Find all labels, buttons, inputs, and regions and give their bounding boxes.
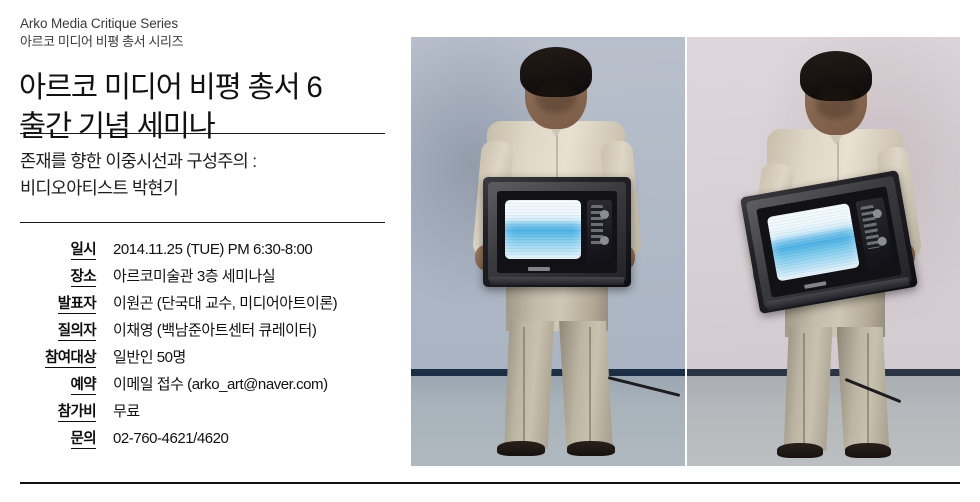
table-row: 참여대상일반인 50명 <box>0 346 400 373</box>
photo-left-tv <box>483 177 631 287</box>
photo-left-shoe-1 <box>497 441 545 456</box>
page-title-line2: 출간 기념 세미나 <box>19 107 399 146</box>
photo-right-tv-controlpanel <box>855 197 894 271</box>
divider-middle <box>20 222 385 223</box>
photo-left-shoe-2 <box>567 441 615 456</box>
detail-label: 발표자 <box>0 292 96 319</box>
photo-left-tv-bezel <box>488 182 626 282</box>
divider-bottom <box>20 482 960 484</box>
photo-left-tv-scanlines <box>505 200 581 259</box>
detail-value: 무료 <box>96 400 400 427</box>
photo-right-tv-inner <box>756 186 902 298</box>
photo-left-face-shadow <box>536 83 576 113</box>
detail-label-text: 발표자 <box>58 296 96 314</box>
photo-right-crease-1 <box>803 333 805 447</box>
photo-left-crease-1 <box>523 327 525 445</box>
text-column: Arko Media Critique Series 아르코 미디어 비평 총서… <box>0 0 410 502</box>
detail-value: 아르코미술관 3층 세미나실 <box>96 265 400 292</box>
photo-left-tv-lowbar <box>490 277 623 285</box>
detail-value: 일반인 50명 <box>96 346 400 373</box>
detail-value: 이메일 접수 (arko_art@naver.com) <box>96 373 400 400</box>
detail-label-text: 일시 <box>71 242 96 260</box>
subtitle-line2: 비디오아티스트 박현기 <box>20 175 395 202</box>
table-row: 질의자이채영 (백남준아트센터 큐레이터) <box>0 319 400 346</box>
table-row: 예약이메일 접수 (arko_art@naver.com) <box>0 373 400 400</box>
event-details-body: 일시2014.11.25 (TUE) PM 6:30-8:00장소아르코미술관 … <box>0 238 400 454</box>
detail-label: 문의 <box>0 427 96 454</box>
detail-label: 일시 <box>0 238 96 265</box>
photo-left-tv-screen <box>505 200 581 259</box>
detail-label-text: 참가비 <box>58 404 96 422</box>
photo-right <box>687 37 961 466</box>
photo-right-tv-scanlines <box>767 203 860 281</box>
detail-value: 이원곤 (단국대 교수, 미디어아트이론) <box>96 292 400 319</box>
photo-right-figure <box>687 37 961 466</box>
page-title-line1: 아르코 미디어 비평 총서 6 <box>19 71 322 104</box>
photo-left-crease-2 <box>589 327 591 445</box>
photo-right-shoe-1 <box>777 443 823 458</box>
detail-label-text: 장소 <box>71 269 96 287</box>
poster-root: Arko Media Critique Series 아르코 미디어 비평 총서… <box>0 0 980 502</box>
detail-label-text: 문의 <box>71 431 96 449</box>
photo-left-tv-brand <box>528 267 550 271</box>
event-details-table: 일시2014.11.25 (TUE) PM 6:30-8:00장소아르코미술관 … <box>0 238 400 454</box>
table-row: 문의02-760-4621/4620 <box>0 427 400 454</box>
photo-left-tv-knob-1 <box>600 210 609 219</box>
detail-value: 이채영 (백남준아트센터 큐레이터) <box>96 319 400 346</box>
photo-right-shoe-2 <box>845 443 891 458</box>
photo-left-tv-controlpanel <box>587 200 612 264</box>
detail-value: 02-760-4621/4620 <box>96 427 400 454</box>
table-row: 장소아르코미술관 3층 세미나실 <box>0 265 400 292</box>
series-title-ko: 아르코 미디어 비평 총서 시리즈 <box>20 33 183 51</box>
detail-value: 2014.11.25 (TUE) PM 6:30-8:00 <box>96 238 400 265</box>
detail-label: 예약 <box>0 373 96 400</box>
photo-left-tv-knob-2 <box>600 236 609 245</box>
photo-strip <box>411 37 960 466</box>
detail-label: 장소 <box>0 265 96 292</box>
detail-label-text: 질의자 <box>58 323 96 341</box>
photo-right-face-shadow <box>816 89 856 119</box>
photo-left-leg-2 <box>559 321 615 449</box>
divider-top <box>20 133 385 134</box>
detail-label: 참여대상 <box>0 346 96 373</box>
photo-left-figure <box>411 37 685 466</box>
subtitle: 존재를 향한 이중시선과 구성주의 : 비디오아티스트 박현기 <box>20 148 395 202</box>
photo-right-tv-screen <box>767 203 860 281</box>
subtitle-line1: 존재를 향한 이중시선과 구성주의 : <box>20 151 256 171</box>
series-heading: Arko Media Critique Series 아르코 미디어 비평 총서… <box>20 14 183 52</box>
photo-right-leg-2 <box>837 327 892 451</box>
detail-label-text: 참여대상 <box>45 350 96 368</box>
detail-label-text: 예약 <box>71 377 96 395</box>
table-row: 일시2014.11.25 (TUE) PM 6:30-8:00 <box>0 238 400 265</box>
photo-right-tv-brand <box>804 281 826 289</box>
detail-label: 질의자 <box>0 319 96 346</box>
photo-left-cable <box>608 376 681 397</box>
page-title: 아르코 미디어 비평 총서 6 출간 기념 세미나 <box>19 68 399 146</box>
table-row: 발표자이원곤 (단국대 교수, 미디어아트이론) <box>0 292 400 319</box>
series-title-en: Arko Media Critique Series <box>20 14 183 33</box>
photo-right-leg-1 <box>781 327 833 451</box>
table-row: 참가비무료 <box>0 400 400 427</box>
photo-left-leg-1 <box>501 321 554 449</box>
photo-left-tv-inner <box>497 191 617 273</box>
photo-left <box>411 37 685 466</box>
detail-label: 참가비 <box>0 400 96 427</box>
